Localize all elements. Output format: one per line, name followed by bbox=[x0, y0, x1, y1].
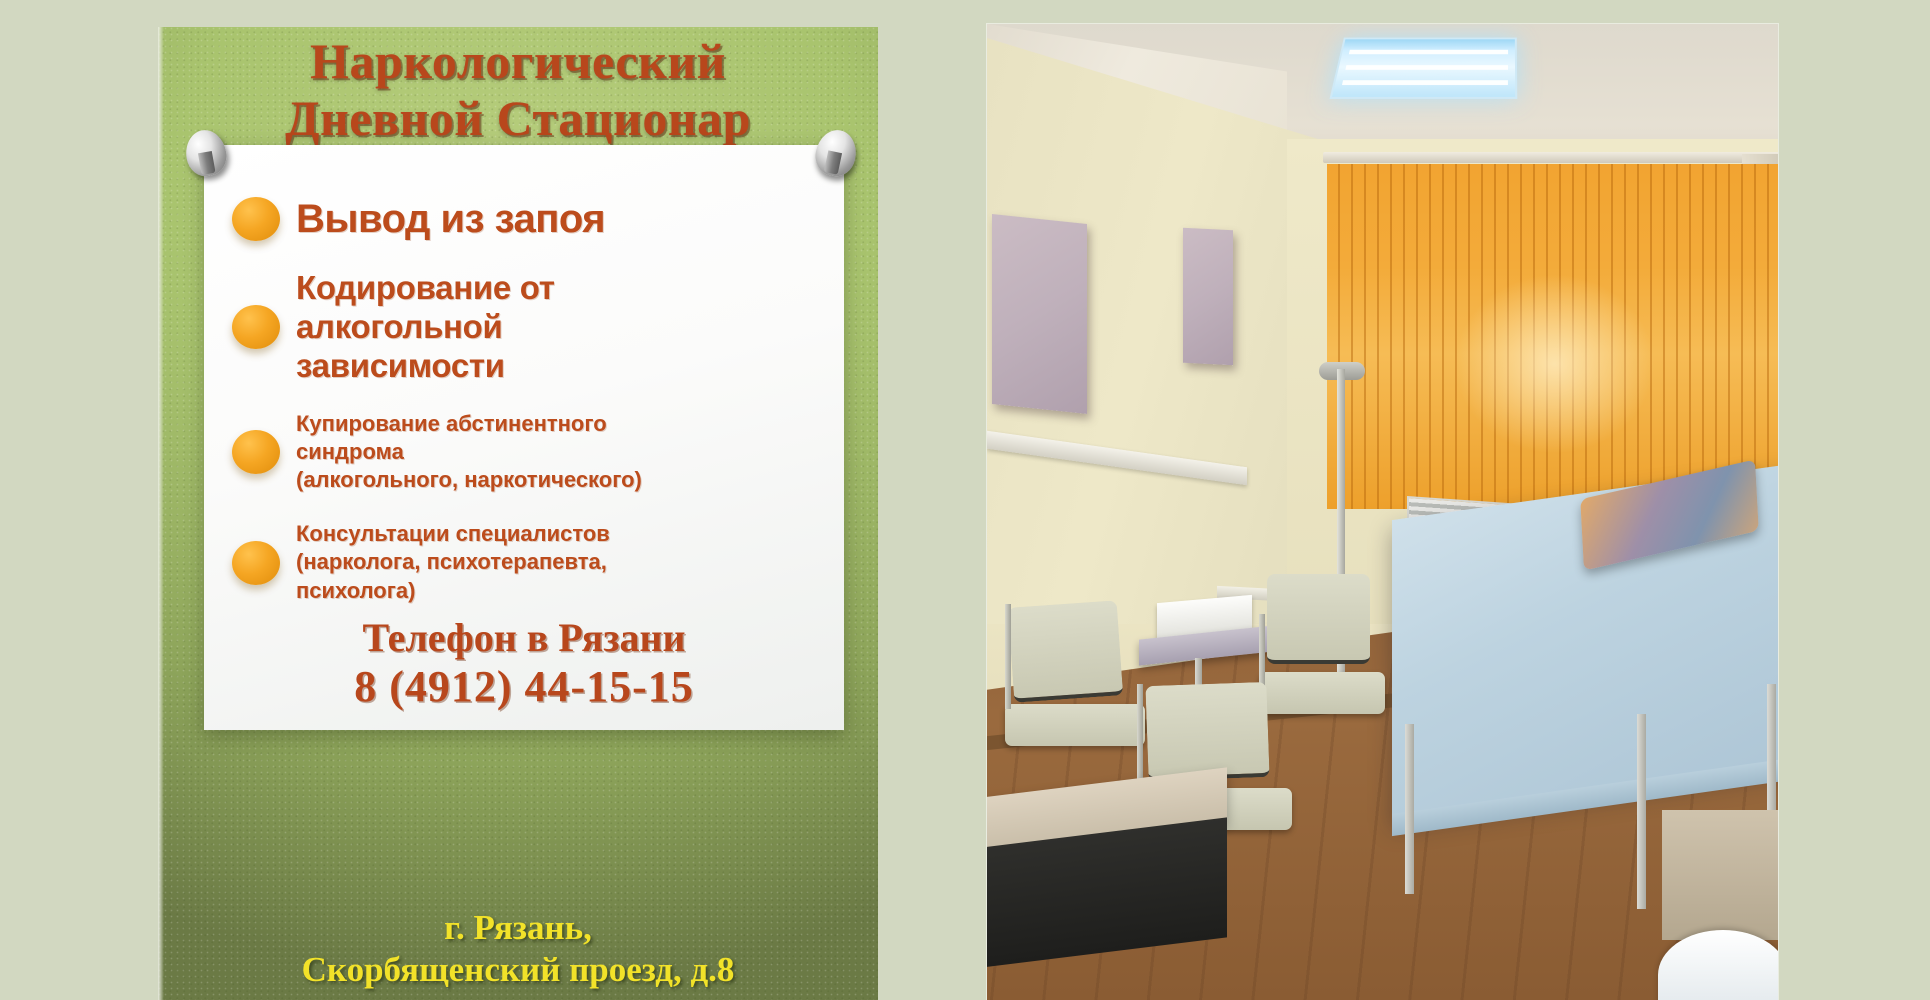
bullet-dot-icon bbox=[232, 305, 280, 349]
services-list: Вывод из запоя Кодирование от алкогольно… bbox=[204, 145, 844, 605]
phone-label: Телефон в Рязани bbox=[204, 616, 844, 661]
address-block: г. Рязань, Скорбященский проезд, д.8 bbox=[158, 907, 878, 992]
service-3-line-2: синдрома bbox=[296, 438, 642, 466]
page-root: Наркологический Дневной Стационар Вывод … bbox=[0, 0, 1930, 1000]
poster-title: Наркологический Дневной Стационар bbox=[158, 33, 878, 147]
poster-title-line-1: Наркологический bbox=[158, 33, 878, 90]
service-1-line-1: Вывод из запоя bbox=[296, 198, 605, 240]
service-2-line-1: Кодирование от bbox=[296, 269, 555, 308]
service-2-line-2: алкогольной bbox=[296, 308, 555, 347]
address-street: Скорбященский проезд, д.8 bbox=[158, 949, 878, 992]
cabinet bbox=[1662, 810, 1778, 940]
poster-title-line-2: Дневной Стационар bbox=[158, 90, 878, 147]
phone-number: 8 (4912) 44-15-15 bbox=[204, 661, 844, 714]
service-item-3: Купирование абстинентного синдрома (алко… bbox=[224, 410, 826, 494]
service-item-2: Кодирование от алкогольной зависимости bbox=[224, 269, 826, 386]
bullet-dot-icon bbox=[232, 430, 280, 474]
vertical-blinds bbox=[1327, 164, 1778, 509]
service-item-4-text: Консультации специалистов (нарколога, пс… bbox=[296, 520, 610, 604]
couch-leg bbox=[1637, 714, 1646, 909]
blinds-rail bbox=[1323, 152, 1778, 163]
window-glow bbox=[1454, 274, 1654, 453]
service-2-line-3: зависимости bbox=[296, 347, 555, 386]
clinic-room-photo bbox=[987, 24, 1778, 1000]
service-3-line-1: Купирование абстинентного bbox=[296, 410, 642, 438]
service-4-line-2: (нарколога, психотерапевта, bbox=[296, 548, 610, 576]
wall-picture-flowers bbox=[1183, 228, 1233, 366]
clinic-advert-poster: Наркологический Дневной Стационар Вывод … bbox=[158, 27, 878, 1000]
service-3-line-3: (алкогольного, наркотического) bbox=[296, 466, 642, 494]
bullet-dot-icon bbox=[232, 197, 280, 241]
couch-leg bbox=[1405, 724, 1414, 894]
bullet-dot-icon bbox=[232, 541, 280, 585]
service-item-1-text: Вывод из запоя bbox=[296, 198, 605, 240]
poster-left-edge bbox=[158, 27, 164, 1000]
service-item-3-text: Купирование абстинентного синдрома (алко… bbox=[296, 410, 642, 494]
service-item-2-text: Кодирование от алкогольной зависимости bbox=[296, 269, 555, 386]
service-item-1: Вывод из запоя bbox=[224, 197, 826, 241]
ceiling-light-fixture bbox=[1330, 38, 1518, 99]
address-city: г. Рязань, bbox=[158, 907, 878, 950]
service-item-4: Консультации специалистов (нарколога, пс… bbox=[224, 520, 826, 604]
phone-block: Телефон в Рязани 8 (4912) 44-15-15 bbox=[204, 616, 844, 714]
wall-picture-lavender bbox=[992, 214, 1087, 414]
service-4-line-3: психолога) bbox=[296, 577, 610, 605]
service-4-line-1: Консультации специалистов bbox=[296, 520, 610, 548]
services-card: Вывод из запоя Кодирование от алкогольно… bbox=[204, 145, 844, 730]
